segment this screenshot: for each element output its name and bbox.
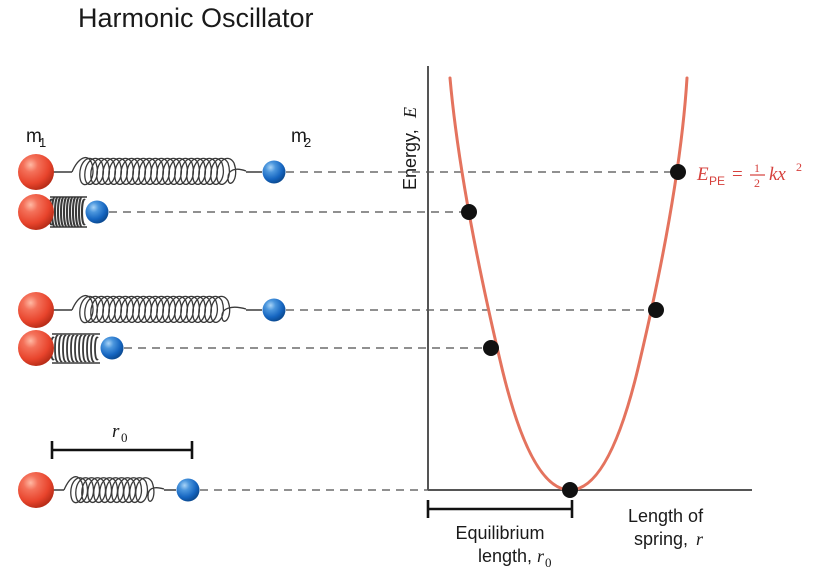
formula-group: E PE = 1 2 kx 2 [696,160,802,190]
data-point-equilibrium [562,482,578,498]
spring-coil [72,158,246,185]
spring-row-compressed-small [18,330,491,366]
mass2-label-group: m 2 [291,126,311,150]
r0-label: r [112,421,120,442]
axis-bracket-label-symbol: r [537,546,545,566]
mass1-sphere [18,194,54,230]
axis-bracket-label-subscript: 0 [545,555,552,570]
mass2-sphere [263,299,286,322]
axis-bracket-label-line2: length, [478,546,532,566]
spring-row-compressed-large [18,194,469,230]
axis-equilibrium-bracket [428,500,572,518]
mass1-sphere [18,330,54,366]
mass1-label-group: m 1 [26,126,46,150]
x-axis-label-group: Length of spring, r [628,506,704,549]
mass2-subscript: 2 [304,135,311,150]
spring-compressed-coils [49,198,85,226]
formula-symbol: E [696,164,709,185]
formula-exponent: 2 [796,160,802,174]
mass2-sphere [101,337,124,360]
x-axis-label-symbol: r [696,529,704,549]
spring-coil [51,334,100,363]
data-point-stretched-large [670,164,686,180]
page-title: Harmonic Oscillator [78,3,314,33]
formula-numerator: 1 [754,161,760,175]
y-axis-label: Energy, [400,129,420,190]
spring-compressed-coils [51,336,98,362]
spring-coil [64,477,164,503]
data-point-compressed-small [483,340,499,356]
x-axis-label-line1: Length of [628,506,704,526]
axis-bracket-label-line1: Equilibrium [455,523,544,543]
spring-row-stretched-large [18,154,678,190]
data-point-stretched-small [648,302,664,318]
spring-coil [72,296,246,323]
mass2-sphere [86,201,109,224]
figure-canvas: Harmonic Oscillator m 1 m 2 [0,0,822,584]
chart-axes [428,66,752,490]
mass1-subscript: 1 [39,135,46,150]
spring-row-stretched-small [18,292,656,328]
harmonic-oscillator-figure: Harmonic Oscillator m 1 m 2 [0,0,822,584]
equilibrium-length-bracket: r 0 [52,421,192,459]
formula-equals: = [732,164,743,185]
mass1-sphere [18,154,54,190]
spring-coil [49,197,87,227]
formula-body: kx [769,164,786,185]
mass2-sphere [177,479,200,502]
y-axis-label-group: Energy, E [400,107,420,190]
data-point-compressed-large [461,204,477,220]
x-axis-label-line2: spring, [634,529,688,549]
potential-energy-curve [450,78,687,490]
mass1-sphere [18,292,54,328]
r0-label-subscript: 0 [121,430,128,445]
axis-bracket-label-group: Equilibrium length, r 0 [455,523,551,570]
mass1-sphere [18,472,54,508]
mass2-sphere [263,161,286,184]
formula-denominator: 2 [754,176,760,190]
formula-subscript: PE [709,174,725,188]
y-axis-symbol: E [400,107,420,119]
